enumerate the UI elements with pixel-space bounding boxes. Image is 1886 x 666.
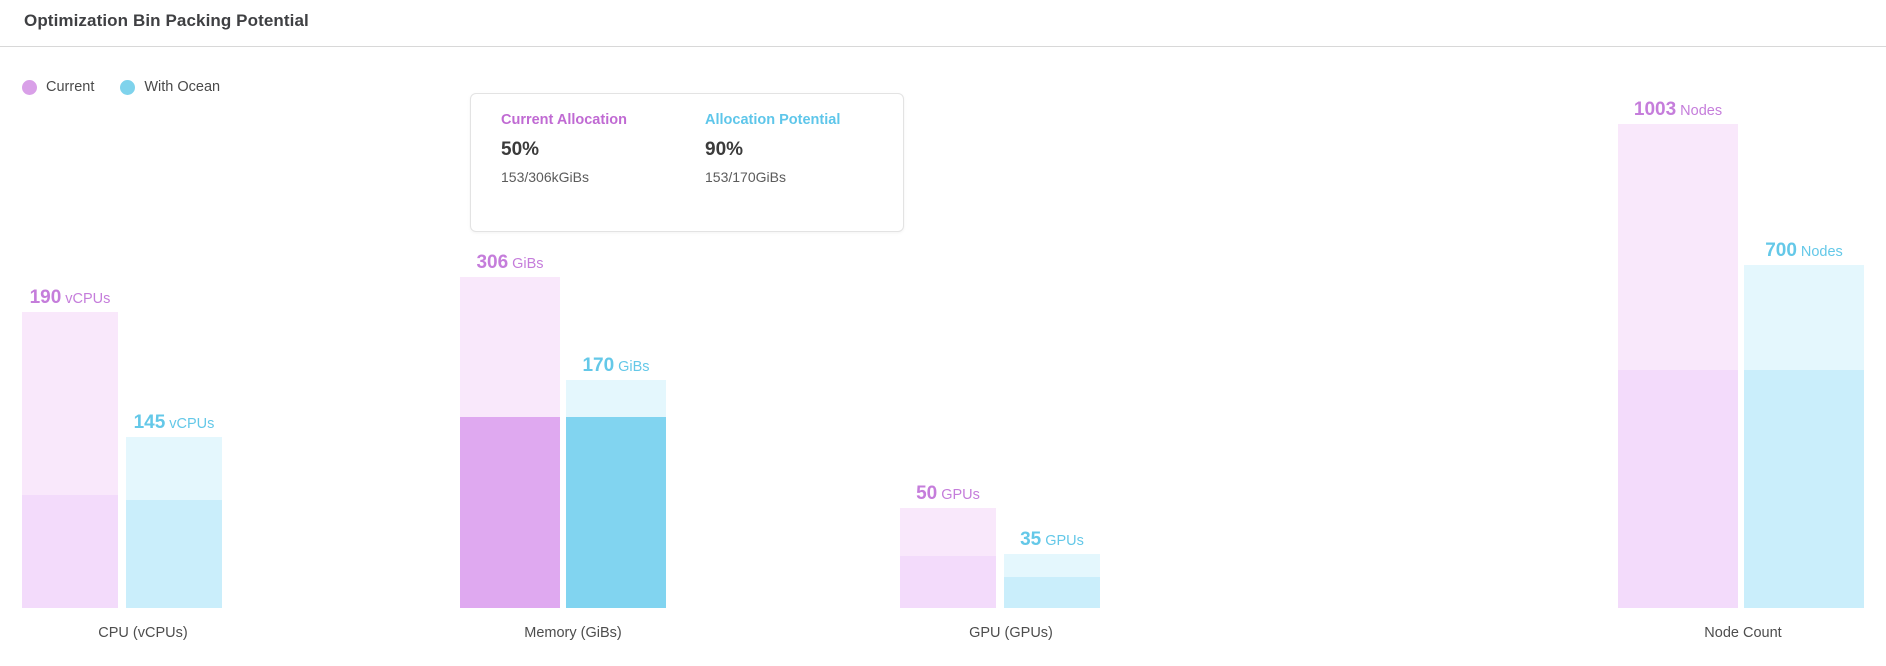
bar-value-number: 190 <box>30 287 62 308</box>
bar-value-label: 170GiBs <box>582 356 649 375</box>
bar-value-label: 700Nodes <box>1765 241 1843 260</box>
bar-memory-current[interactable]: 306GiBs <box>460 277 560 608</box>
bar-value-unit: Nodes <box>1680 103 1722 119</box>
x-axis-label-gpu: GPU (GPUs) <box>868 625 1154 641</box>
bar-value-unit: GiBs <box>512 256 543 272</box>
bar-value-unit: Nodes <box>1801 244 1843 260</box>
bar-value-unit: GPUs <box>941 487 980 503</box>
bar-used-segment <box>1004 577 1100 608</box>
bar-memory-with-ocean[interactable]: 170GiBs <box>566 380 666 608</box>
x-axis-label-cpu: CPU (vCPUs) <box>0 625 286 641</box>
bar-cpu-with-ocean[interactable]: 145vCPUs <box>126 437 222 608</box>
bar-used-segment <box>460 417 560 608</box>
bar-used-segment <box>22 495 118 608</box>
bar-value-label: 190vCPUs <box>30 288 111 307</box>
bar-value-label: 145vCPUs <box>134 413 215 432</box>
bar-value-number: 306 <box>476 252 508 273</box>
bar-value-number: 170 <box>582 355 614 376</box>
bar-value-unit: GPUs <box>1045 533 1084 549</box>
bar-cpu-current[interactable]: 190vCPUs <box>22 312 118 608</box>
bar-used-segment <box>1618 370 1738 608</box>
bar-used-segment <box>900 556 996 608</box>
bar-node-with-ocean[interactable]: 700Nodes <box>1744 265 1864 608</box>
bar-chart: 190vCPUs145vCPUsCPU (vCPUs)306GiBs170GiB… <box>0 0 1886 666</box>
bar-gpu-current[interactable]: 50GPUs <box>900 508 996 608</box>
bar-group-gpu[interactable]: 50GPUs35GPUsGPU (GPUs) <box>868 0 1154 666</box>
bar-value-number: 145 <box>134 412 166 433</box>
bar-value-unit: vCPUs <box>169 416 214 432</box>
bar-value-label: 35GPUs <box>1020 530 1084 549</box>
bar-used-segment <box>566 417 666 608</box>
bar-used-segment <box>126 500 222 608</box>
bar-value-label: 50GPUs <box>916 484 980 503</box>
bar-group-node[interactable]: 1003Nodes700NodesNode Count <box>1600 0 1886 666</box>
bar-used-segment <box>1744 370 1864 608</box>
bar-value-label: 306GiBs <box>476 253 543 272</box>
bar-value-unit: GiBs <box>618 359 649 375</box>
bar-node-current[interactable]: 1003Nodes <box>1618 124 1738 608</box>
x-axis-label-node: Node Count <box>1600 625 1886 641</box>
bar-value-number: 50 <box>916 483 937 504</box>
bar-group-cpu[interactable]: 190vCPUs145vCPUsCPU (vCPUs) <box>0 0 286 666</box>
bar-gpu-with-ocean[interactable]: 35GPUs <box>1004 554 1100 608</box>
bar-value-number: 700 <box>1765 240 1797 261</box>
x-axis-label-memory: Memory (GiBs) <box>430 625 716 641</box>
bar-value-number: 35 <box>1020 529 1041 550</box>
bar-group-memory[interactable]: 306GiBs170GiBsMemory (GiBs) <box>430 0 716 666</box>
bar-value-number: 1003 <box>1634 99 1676 120</box>
bar-value-label: 1003Nodes <box>1634 100 1722 119</box>
bar-value-unit: vCPUs <box>65 291 110 307</box>
